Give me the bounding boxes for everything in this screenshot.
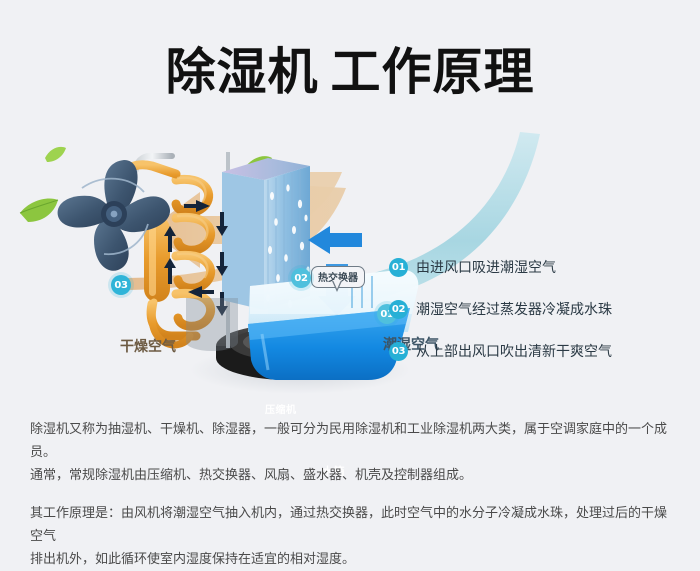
legend-badge-02: 02	[389, 300, 408, 319]
description-para-1-line-1: 除湿机又称为抽湿机、干燥机、除湿器，一般可分为民用除湿机和工业除湿机两大类，属于…	[30, 418, 678, 464]
legend-list: 01 由进风口吸进潮湿空气 02 潮湿空气经过蒸发器冷凝成水珠 03 从上部出风…	[389, 256, 679, 382]
paragraph-spacer	[30, 487, 678, 502]
legend-badge-03: 03	[389, 342, 408, 361]
label-compressor: 压缩机	[265, 401, 297, 416]
diagram-badge-03: 03	[111, 275, 131, 295]
page-title-part2: 工作原理	[331, 43, 535, 101]
legend-item-02: 02 潮湿空气经过蒸发器冷凝成水珠	[389, 298, 679, 320]
legend-text-03: 从上部出风口吹出清新干爽空气	[416, 341, 612, 361]
page-title: 除湿机工作原理	[0, 32, 700, 104]
description-para-1-line-2: 通常，常规除湿机由压缩机、热交换器、风扇、盛水器、机壳及控制器组成。	[30, 464, 678, 487]
label-dry-air: 干燥空气	[120, 336, 176, 356]
legend-item-03: 03 从上部出风口吹出清新干爽空气	[389, 340, 679, 362]
callout-heat-exchanger: 热交换器	[311, 266, 365, 288]
legend-text-02: 潮湿空气经过蒸发器冷凝成水珠	[416, 299, 612, 319]
diagram-badge-02: 02	[291, 268, 311, 288]
description-block: 除湿机又称为抽湿机、干燥机、除湿器，一般可分为民用除湿机和工业除湿机两大类，属于…	[30, 418, 678, 571]
legend-item-01: 01 由进风口吸进潮湿空气	[389, 256, 679, 278]
description-para-2-line-2: 排出机外，如此循环使室内湿度保持在适宜的相对湿度。	[30, 548, 678, 571]
legend-badge-01: 01	[389, 258, 408, 277]
legend-text-01: 由进风口吸进潮湿空气	[416, 257, 556, 277]
description-para-2-line-1: 其工作原理是：由风机将潮湿空气抽入机内，通过热交换器，此时空气中的水分子冷凝成水…	[30, 502, 678, 548]
compressor-unit	[186, 298, 238, 351]
page-title-part1: 除湿机	[166, 43, 319, 101]
callout-tail-icon	[332, 281, 342, 292]
page-root: 除湿机工作原理	[0, 0, 700, 566]
